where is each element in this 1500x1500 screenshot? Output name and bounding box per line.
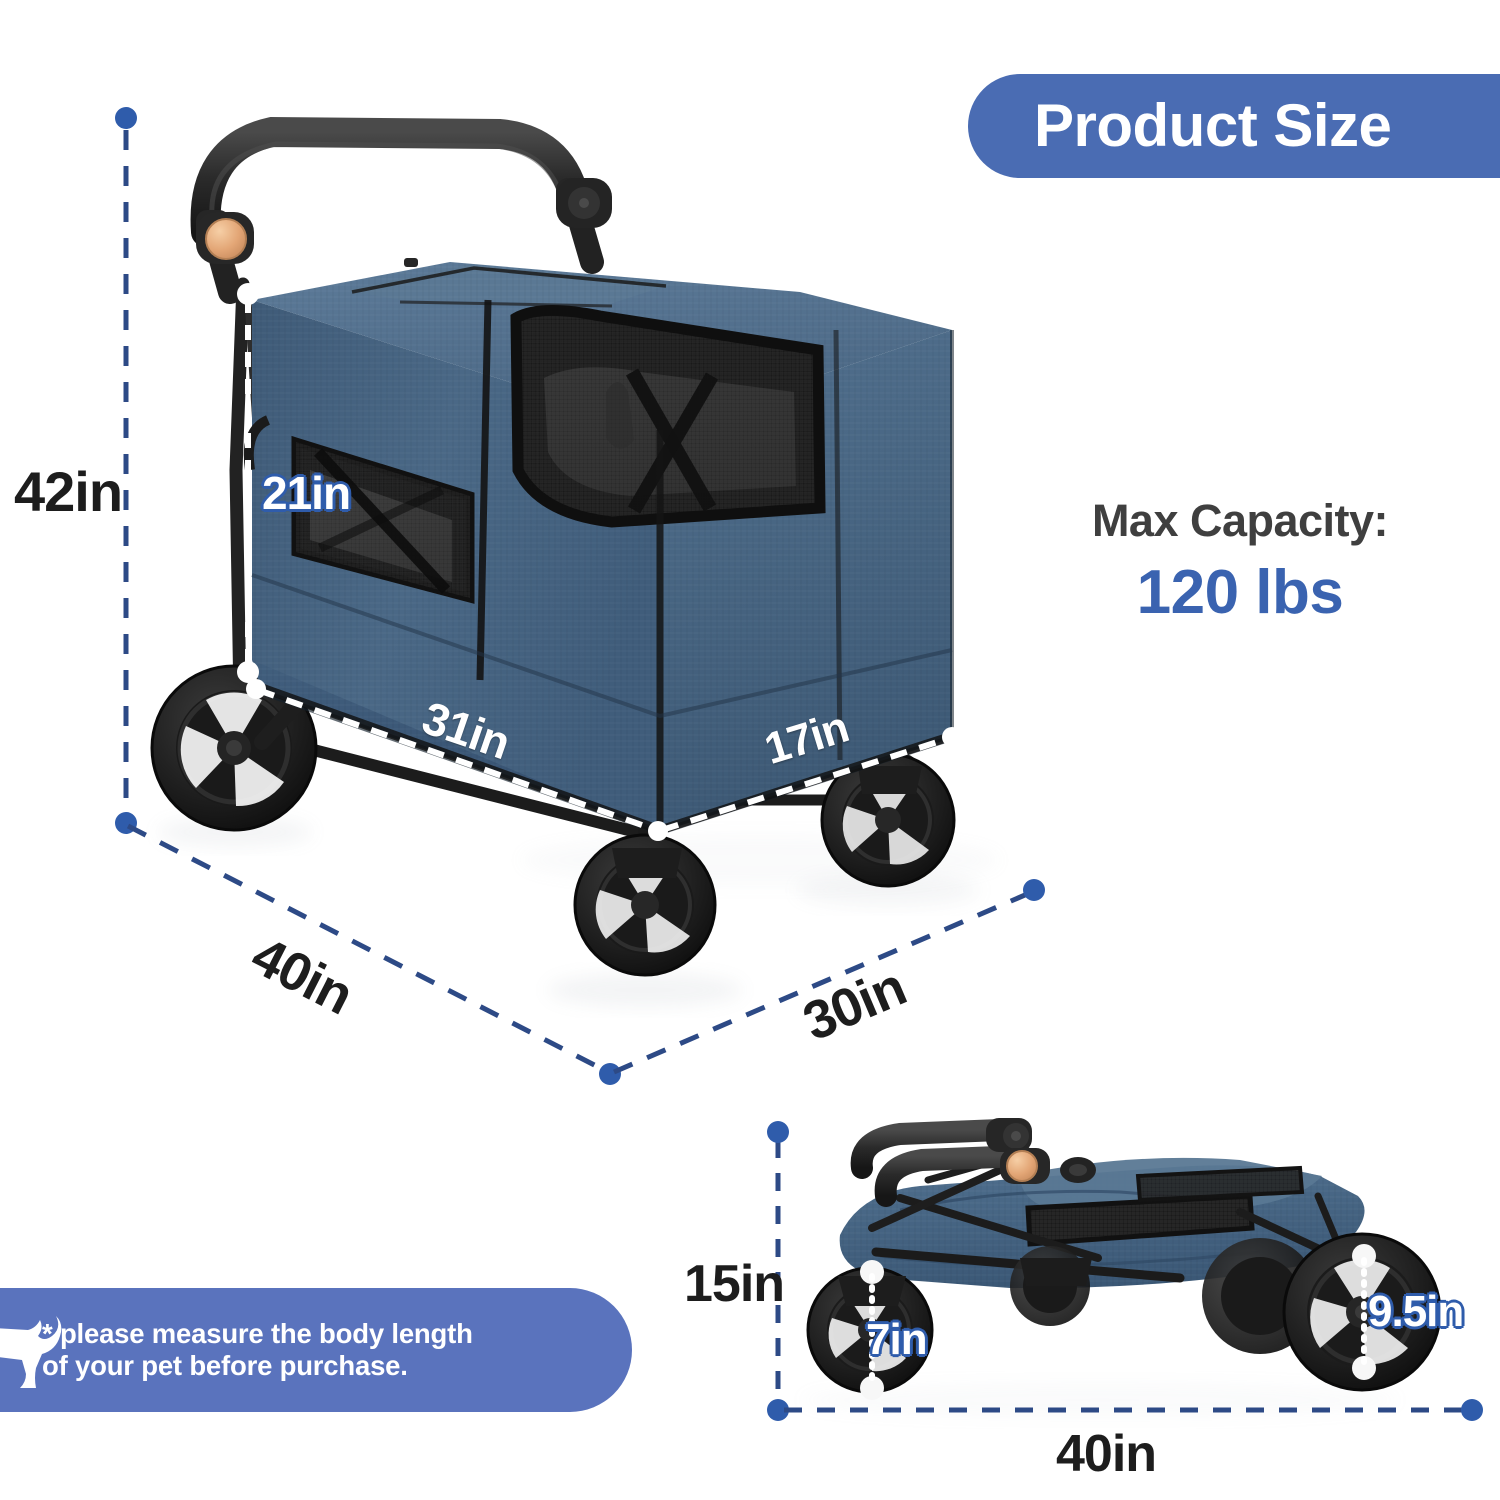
handle-adjust-knob [196, 212, 254, 264]
folded-front-wheel [808, 1246, 1092, 1400]
pet-measure-note-text: * please measure the body length of your… [42, 1318, 473, 1383]
infographic-canvas: 42in 21in 31in 17in 40in 30in 15in 7in 9… [0, 0, 1500, 1500]
product-size-banner: Product Size [968, 74, 1500, 178]
stroller-main-illustration [152, 132, 954, 975]
product-size-title: Product Size [1034, 96, 1391, 156]
dim-label-7in: 7in [866, 1318, 927, 1362]
dim-label-40in: 40in [243, 928, 360, 1023]
dim-label-21in: 21in [262, 470, 350, 516]
front-wheel-right [822, 753, 954, 886]
dim-label-30in: 30in [796, 959, 913, 1049]
rear-wheel-left [152, 666, 316, 830]
dim-label-17in: 17in [760, 705, 853, 772]
dim-label-9.5in: 9.5in [1368, 1290, 1463, 1334]
max-capacity-value: 120 lbs [1030, 557, 1450, 628]
pet-measure-note-pill: * please measure the body length of your… [0, 1288, 632, 1412]
dim-label-42in: 42in [14, 464, 122, 520]
max-capacity-block: Max Capacity: 120 lbs [1030, 495, 1450, 628]
stroller-folded-illustration [800, 1118, 1440, 1418]
dim-line-40in [128, 826, 608, 1072]
front-wheel-center [575, 768, 715, 975]
max-capacity-label: Max Capacity: [1030, 495, 1450, 547]
dim-label-31in: 31in [417, 694, 515, 766]
dim-label-15in: 15in [684, 1258, 784, 1310]
dog-silhouette-icon [0, 1302, 80, 1398]
stroller-handle [196, 132, 612, 292]
dim-label-folded-40in: 40in [1056, 1428, 1156, 1480]
